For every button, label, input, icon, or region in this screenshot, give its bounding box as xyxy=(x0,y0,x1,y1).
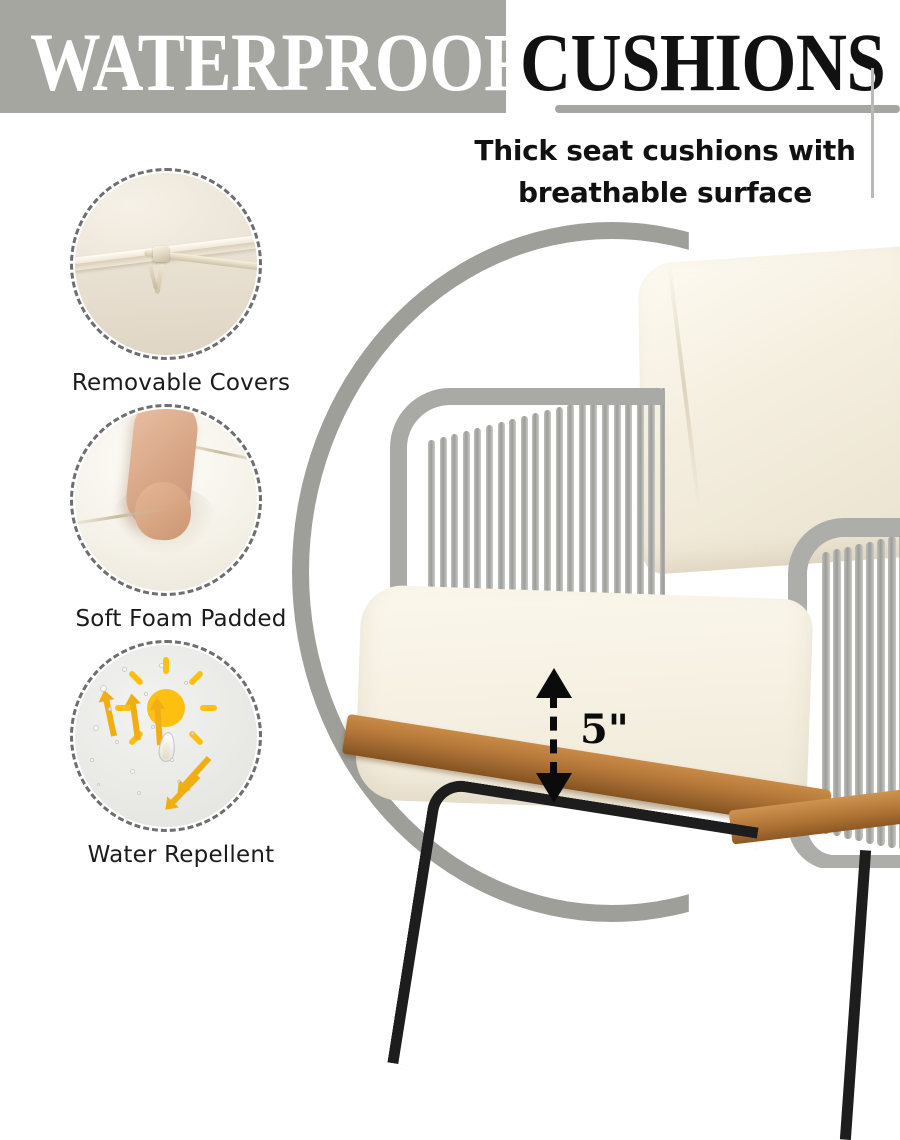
arrow-down-icon xyxy=(536,773,572,803)
feature-3-label: Water Repellent xyxy=(14,840,348,870)
subtitle-line-2: breathable surface xyxy=(455,172,875,214)
header-horizontal-rule xyxy=(555,105,900,113)
infographic-canvas: WATERPROOF CUSHIONS Thick seat cushions … xyxy=(0,0,900,900)
header-title-waterproof: WATERPROOF xyxy=(30,18,526,106)
subtitle: Thick seat cushions with breathable surf… xyxy=(455,130,875,214)
cushion-thickness-callout: 5" xyxy=(536,668,656,803)
feature-1-thumbnail xyxy=(70,168,262,360)
feature-1-label: Removable Covers xyxy=(14,368,348,398)
dashed-ring-border xyxy=(70,168,262,360)
dashed-ring-border xyxy=(70,640,262,832)
metal-leg-right xyxy=(840,850,871,1140)
feature-3-thumbnail xyxy=(70,640,262,832)
header-title-cushions: CUSHIONS xyxy=(520,18,885,106)
metal-leg-frame xyxy=(387,776,758,1114)
subtitle-line-1: Thick seat cushions with xyxy=(455,130,875,172)
dashed-ring-border xyxy=(70,404,262,596)
feature-2-thumbnail xyxy=(70,404,262,596)
dimension-value: 5" xyxy=(580,710,629,750)
dimension-line xyxy=(550,694,557,776)
